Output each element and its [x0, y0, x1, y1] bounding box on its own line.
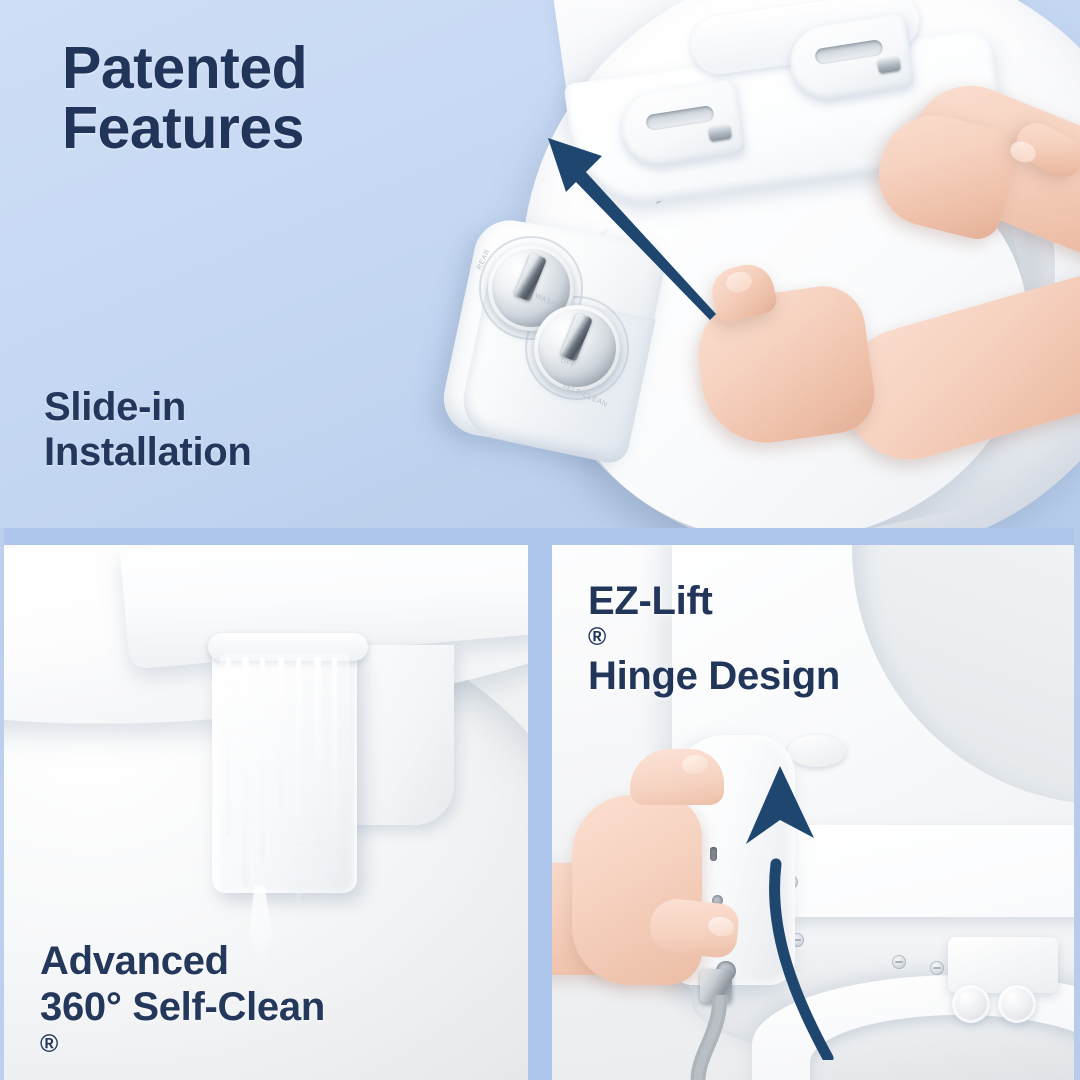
adjustment-wheel[interactable]	[998, 985, 1036, 1023]
page-title: Patented Features	[62, 38, 307, 158]
feature-caption-ez-lift: EZ-Lift® Hinge Design	[588, 578, 840, 700]
index-finger	[630, 749, 724, 805]
bracket-slot	[645, 105, 715, 131]
slide-in-direction-arrow	[540, 130, 750, 340]
right-edge-border	[1074, 528, 1080, 1080]
page-title-line-1: Patented	[62, 38, 307, 98]
page-title-line-2: Features	[62, 98, 307, 158]
water-sheet	[220, 653, 350, 893]
registered-mark: ®	[588, 624, 840, 653]
infographic-canvas: REAR WASH OFF SELF-CLEAN Patented Featur…	[0, 0, 1080, 1080]
housing-vent	[710, 847, 717, 861]
ez-lift-text: EZ-Lift	[588, 578, 840, 624]
self-clean-line-2: 360° Self-Clean®	[40, 984, 325, 1059]
self-clean-line-1: Advanced	[40, 938, 325, 984]
hinge-lift-arrow	[732, 760, 952, 1060]
hand-grip	[572, 795, 702, 985]
mount-block	[948, 937, 1058, 993]
feature-caption-line-1: Slide-in	[44, 385, 252, 430]
bracket-slot	[814, 39, 884, 65]
panel-divider-vertical	[528, 528, 552, 1080]
adjustment-wheel[interactable]	[952, 985, 990, 1023]
left-edge-border	[0, 528, 4, 1080]
ez-lift-line-1: EZ-Lift®	[588, 578, 840, 653]
bottom-left-panel-self-clean: Advanced 360° Self-Clean®	[4, 545, 528, 1080]
top-panel-slide-in-installation: REAR WASH OFF SELF-CLEAN Patented Featur…	[0, 0, 1080, 540]
bottom-right-panel-ez-lift: EZ-Lift® Hinge Design	[552, 545, 1074, 1080]
feature-caption-self-clean: Advanced 360° Self-Clean®	[40, 938, 325, 1060]
registered-mark: ®	[40, 1031, 325, 1060]
feature-caption-line-2: Installation	[44, 430, 252, 475]
ez-lift-line-2: Hinge Design	[588, 653, 840, 699]
feature-caption-slide-in: Slide-in Installation	[44, 385, 252, 475]
self-clean-text: 360° Self-Clean	[40, 984, 325, 1030]
